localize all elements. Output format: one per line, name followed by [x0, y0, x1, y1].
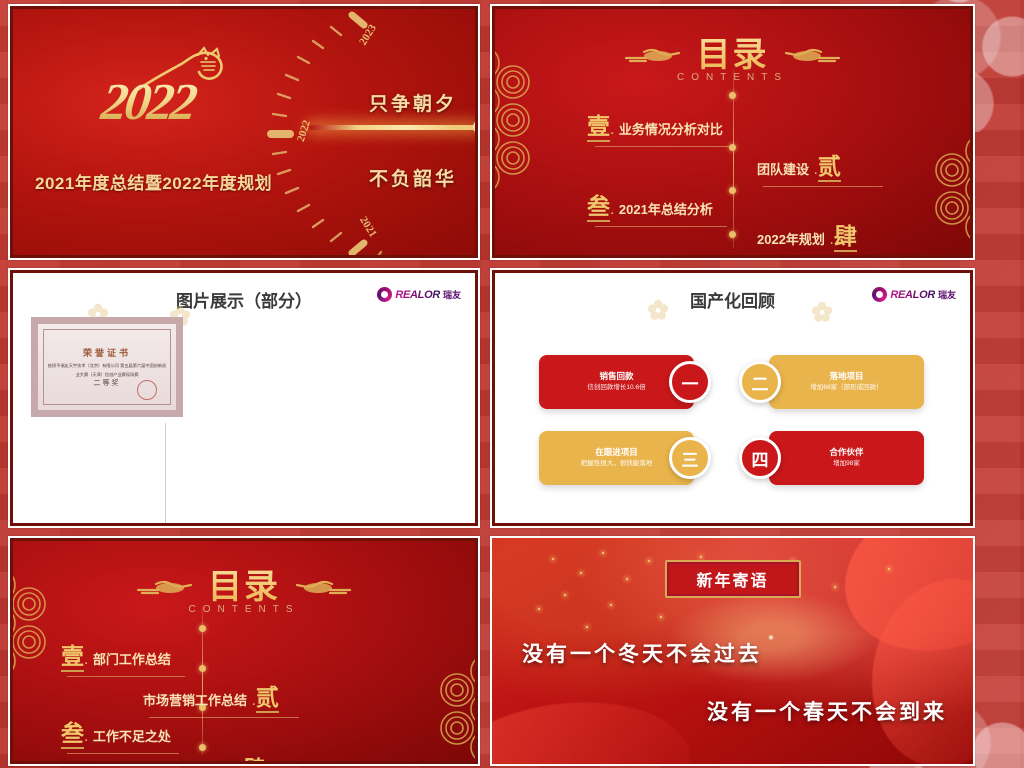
plum-blossom-icon [647, 299, 669, 321]
year-logo-text: 2022 [59, 73, 237, 132]
timeline-dot [199, 665, 206, 672]
year-logo: 2022 [63, 47, 233, 157]
slide-thumbnail-localization[interactable]: 国产化回顾 REALOR 瑞友 销售回款 信创回款增长10.6倍 一 落地项目 [490, 268, 975, 528]
certificate-seal-icon [137, 380, 157, 400]
slide-thumbnail-title[interactable]: 2023 2022 2021 2022 2021年度总结暨2022年度规划 只争… [8, 4, 480, 260]
contents-heading-area: 目录 CONTENTS [13, 559, 475, 615]
toc-number: 壹 [587, 114, 610, 142]
toc-entry-4[interactable]: 2022工作规划 .肆 [153, 750, 289, 764]
toc-label: 市场营销工作总结 [143, 693, 247, 708]
realor-brand-cn: 瑞友 [938, 288, 956, 301]
toc-label: 团队建设 [757, 162, 809, 177]
slide-thumbnail-contents-2[interactable]: 目录 CONTENTS 壹. 部门工作总结 市场营销工作总结 .贰 [8, 536, 480, 766]
timeline-dot [729, 231, 736, 238]
contents-heading-cn: 目录 [208, 559, 280, 608]
process-number-1: 一 [669, 361, 711, 403]
gallery-divider [165, 423, 166, 523]
toc-entry-1[interactable]: 壹. 部门工作总结 [61, 637, 185, 677]
toc-number: 叁 [587, 194, 610, 222]
new-year-badge: 新年寄语 [664, 560, 800, 598]
realor-brand: REALOR [395, 289, 440, 301]
cloud-ornament-right-icon [783, 48, 841, 64]
process-card-subtitle: 增加68家（部形成回款） [769, 383, 924, 393]
new-year-line-2: 没有一个春天不会到来 [707, 696, 947, 726]
gallery-document[interactable]: 附件公示 2021 北京市企业主持中试项目及评审时间安排 [31, 525, 155, 526]
toc-entry-1[interactable]: 壹. 业务情况分析对比 [587, 107, 735, 147]
timeline-dot [729, 187, 736, 194]
toc-label: 业务情况分析对比 [619, 122, 723, 137]
slide-thumbnail-new-year[interactable]: 新年寄语 没有一个冬天不会过去 没有一个春天不会到来 [490, 536, 975, 766]
slide-3-frame: 图片展示（部分） REALOR 瑞友 荣誉证书 兹授予瑞友天宇技术（北京）有限公… [10, 270, 478, 526]
new-year-line-1: 没有一个冬天不会过去 [522, 638, 762, 668]
slide-thumbnail-contents-1[interactable]: 目录 CONTENTS 壹. 业务情况分析对比 团队建设 .贰 [490, 4, 975, 260]
toc-entry-3[interactable]: 叁. 2021年总结分析 [587, 187, 727, 227]
slide-5-frame: 目录 CONTENTS 壹. 部门工作总结 市场营销工作总结 .贰 [10, 538, 478, 764]
plum-blossom-icon [811, 301, 833, 323]
toc-label: 2022年规划 [757, 232, 825, 247]
slide-1-title: 2021年度总结暨2022年度规划 [35, 169, 272, 194]
slide-1-frame: 2023 2022 2021 2022 2021年度总结暨2022年度规划 只争… [10, 6, 478, 258]
timeline-dot [729, 92, 736, 99]
realor-mark-icon [377, 287, 392, 302]
toc-number: 壹 [61, 644, 84, 672]
toc-entry-2[interactable]: 市场营销工作总结 .贰 [143, 678, 299, 718]
gauge-needle [309, 125, 478, 130]
toc-number: 肆 [834, 224, 857, 252]
process-card-subtitle: 增加98家 [769, 459, 924, 469]
realor-mark-icon [872, 287, 887, 302]
fan-decoration-right-icon [916, 127, 973, 258]
slide-thumbnail-gallery[interactable]: 图片展示（部分） REALOR 瑞友 荣誉证书 兹授予瑞友天宇技术（北京）有限公… [8, 268, 480, 528]
realor-brand-cn: 瑞友 [443, 288, 461, 301]
toc-number: 贰 [256, 685, 279, 713]
slide-4-frame: 国产化回顾 REALOR 瑞友 销售回款 信创回款增长10.6倍 一 落地项目 [492, 270, 973, 526]
certificate-body: 兹授予瑞友天宇技术（北京）有限公司 第五届第六届中国创新创业大赛（天津）信创产业… [46, 362, 167, 380]
timeline-dot [199, 625, 206, 632]
slide-6-frame: 新年寄语 没有一个冬天不会过去 没有一个春天不会到来 [492, 538, 973, 764]
realor-logo: REALOR 瑞友 [872, 287, 956, 302]
process-card-title: 落地项目 [769, 370, 924, 383]
process-number-2: 二 [739, 361, 781, 403]
toc-number: 肆 [243, 757, 266, 764]
gallery-photo-1[interactable] [201, 525, 327, 526]
conference-hall-audience-photo [201, 525, 327, 526]
toc-entry-4[interactable]: 2022年规划 .肆 [757, 217, 881, 257]
gallery-certificate[interactable]: 荣誉证书 兹授予瑞友天宇技术（北京）有限公司 第五届第六届中国创新创业大赛（天津… [31, 317, 183, 417]
toc-entry-3[interactable]: 叁. 工作不足之处 [61, 714, 179, 754]
process-card-4[interactable]: 合作伙伴 增加98家 [769, 431, 924, 485]
toc-label: 部门工作总结 [93, 652, 171, 667]
certificate-heading: 荣誉证书 [38, 346, 176, 359]
toc-label: 工作不足之处 [93, 729, 171, 744]
contents-heading-en: CONTENTS [13, 604, 475, 615]
toc-number: 叁 [61, 721, 84, 749]
cloud-ornament-left-icon [624, 48, 682, 64]
slide-deck: 2023 2022 2021 2022 2021年度总结暨2022年度规划 只争… [0, 0, 1024, 768]
process-number-4: 四 [739, 437, 781, 479]
fan-decoration-right-icon [421, 649, 478, 764]
slogan-bottom: 不负韶华 [369, 164, 457, 191]
slogan-top: 只争朝夕 [369, 89, 457, 116]
toc-label: 2021年总结分析 [619, 202, 713, 217]
process-card-title: 合作伙伴 [769, 446, 924, 459]
new-year-badge-text: 新年寄语 [696, 573, 768, 590]
process-card-2[interactable]: 落地项目 增加68家（部形成回款） [769, 355, 924, 409]
realor-logo: REALOR 瑞友 [377, 287, 461, 302]
cloud-ornament-left-icon [136, 580, 194, 596]
realor-brand: REALOR [890, 289, 935, 301]
toc-number: 贰 [818, 154, 841, 182]
cloud-ornament-right-icon [294, 580, 352, 596]
toc-entry-2[interactable]: 团队建设 .贰 [757, 147, 883, 187]
process-number-3: 三 [669, 437, 711, 479]
slide-2-frame: 目录 CONTENTS 壹. 业务情况分析对比 团队建设 .贰 [492, 6, 973, 258]
